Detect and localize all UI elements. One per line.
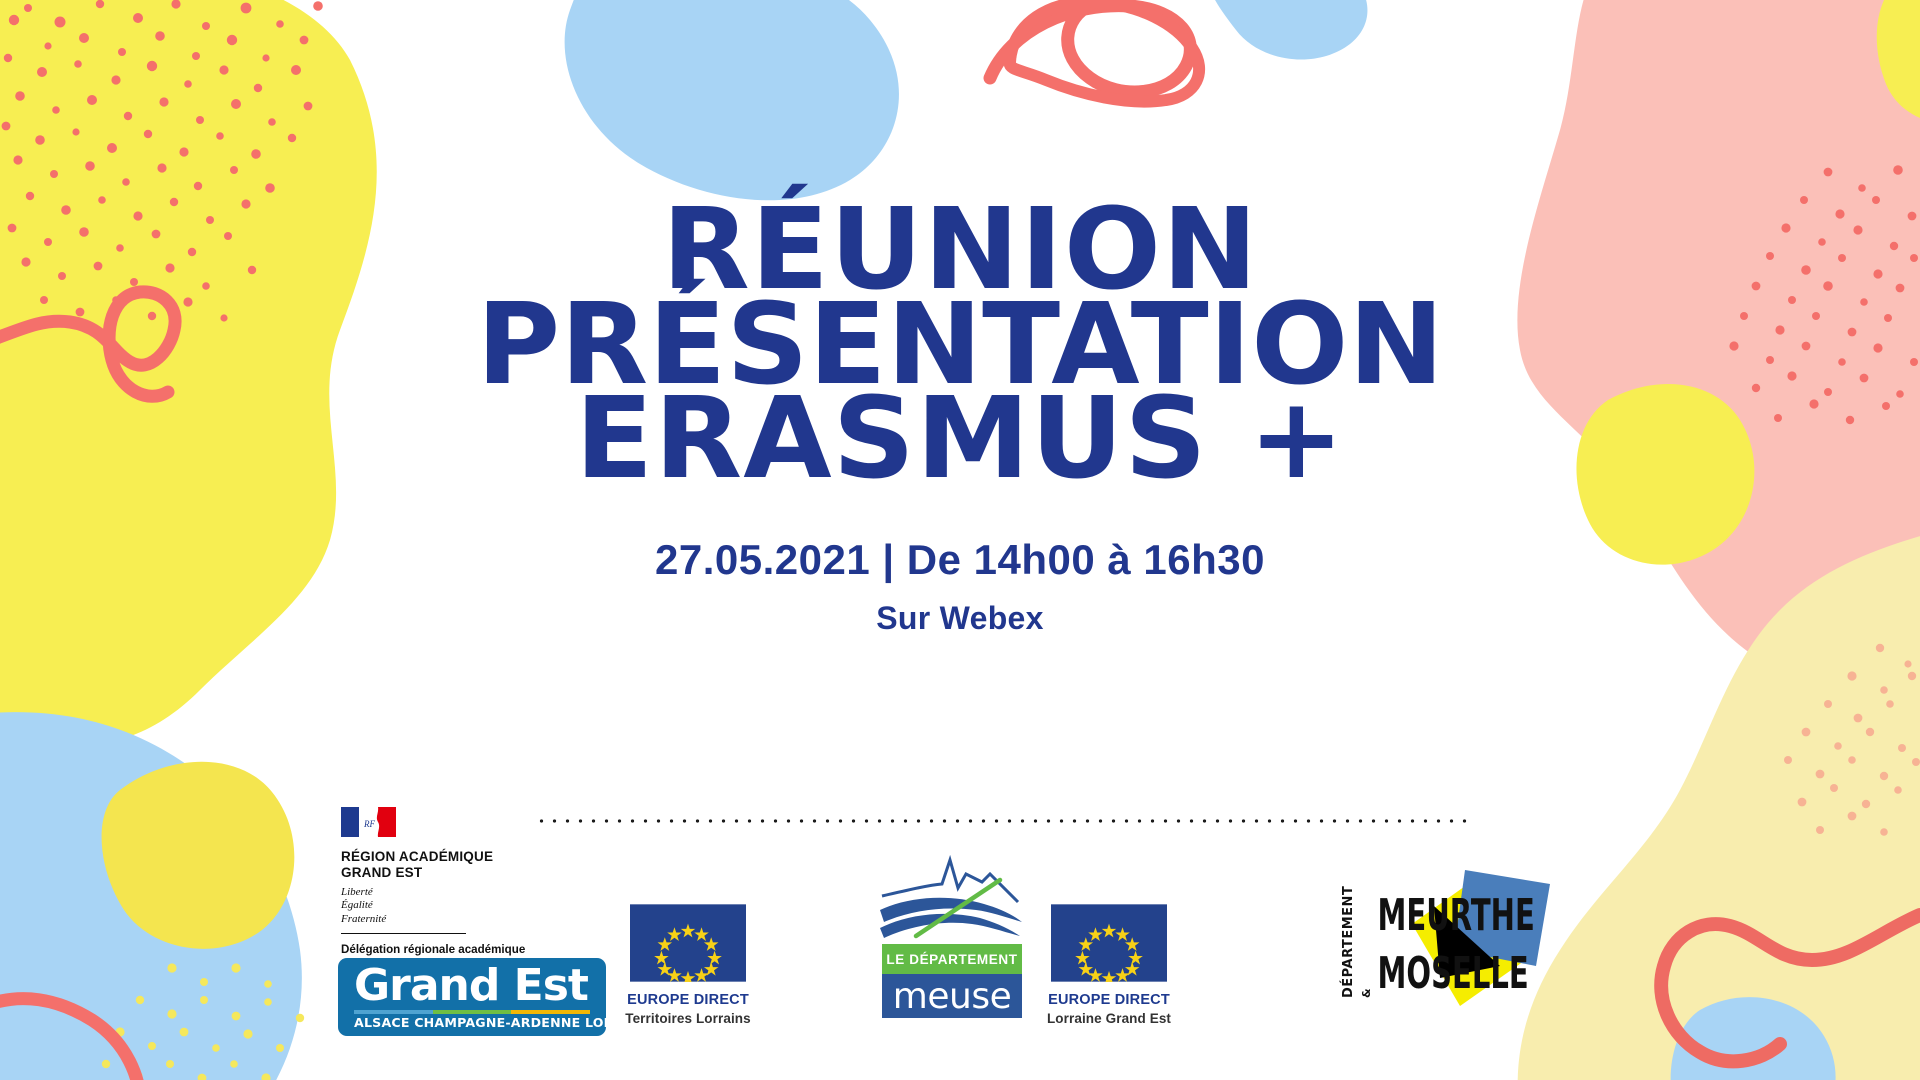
partner-logos: RF RÉGION ACADÉMIQUE GRAND EST Liberté É…: [0, 800, 1920, 1080]
french-republic-flag-icon: RF: [341, 805, 396, 842]
region-academique-title-line1: RÉGION ACADÉMIQUE: [341, 849, 556, 865]
bar-segment-green: [433, 1010, 512, 1014]
title-line-3: ERASMUS +: [476, 385, 1443, 494]
meuse-departement-band: LE DÉPARTEMENT: [882, 944, 1022, 974]
meurthe-moselle-amp: &: [1360, 988, 1373, 998]
meurthe-moselle-departement-label: DÉPARTEMENT: [1340, 886, 1356, 998]
event-datetime: 27.05.2021 | De 14h00 à 16h30: [655, 536, 1265, 584]
bar-segment-yellow: [511, 1010, 590, 1014]
meuse-landscape-icon: [872, 852, 1032, 940]
region-academique-title: RÉGION ACADÉMIQUE GRAND EST: [341, 849, 556, 880]
logo-europe-direct-lorraine-grand-est: EUROPE DIRECT Lorraine Grand Est: [1029, 904, 1189, 1026]
motto-liberte: Liberté: [341, 886, 556, 899]
logo-departement-meuse: LE DÉPARTEMENT meuse: [872, 852, 1032, 1018]
european-union-flag-icon: [630, 904, 746, 982]
meurthe-moselle-line1: MEURTHE: [1378, 889, 1535, 941]
european-union-flag-icon: [1051, 904, 1167, 982]
meurthe-moselle-line2: MOSELLE: [1378, 947, 1529, 999]
svg-text:RF: RF: [363, 819, 375, 829]
bar-segment-blue: [354, 1010, 433, 1014]
french-motto: Liberté Égalité Fraternité: [341, 886, 556, 926]
logo-divider-rule: [341, 933, 466, 934]
region-academique-title-line2: GRAND EST: [341, 865, 556, 881]
europe-direct-2-title: EUROPE DIRECT: [1029, 992, 1189, 1008]
europe-direct-1-subtitle: Territoires Lorrains: [608, 1011, 768, 1026]
motto-egalite: Égalité: [341, 899, 556, 912]
logo-grand-est: Grand Est ALSACE CHAMPAGNE-ARDENNE LORRA…: [338, 958, 606, 1036]
motto-fraternite: Fraternité: [341, 913, 556, 926]
logo-departement-meurthe-et-moselle: DÉPARTEMENT & MEURTHE MOSELLE: [1330, 838, 1570, 1028]
grand-est-subtitle: ALSACE CHAMPAGNE-ARDENNE LORRAINE: [354, 1015, 594, 1030]
meuse-name-band: meuse: [882, 974, 1022, 1018]
event-location: Sur Webex: [876, 600, 1044, 637]
europe-direct-1-title: EUROPE DIRECT: [608, 992, 768, 1008]
grand-est-wordmark: Grand Est: [354, 961, 590, 1009]
poster-canvas: RÉUNION PRÉSENTATION ERASMUS + 27.05.202…: [0, 0, 1920, 1080]
page-title: RÉUNION PRÉSENTATION ERASMUS +: [486, 196, 1434, 494]
grand-est-color-bar: [354, 1010, 590, 1014]
logo-europe-direct-territoires-lorrains: EUROPE DIRECT Territoires Lorrains: [608, 904, 768, 1026]
delegation-line1: Délégation régionale académique: [341, 942, 556, 957]
europe-direct-2-subtitle: Lorraine Grand Est: [1029, 1011, 1189, 1026]
